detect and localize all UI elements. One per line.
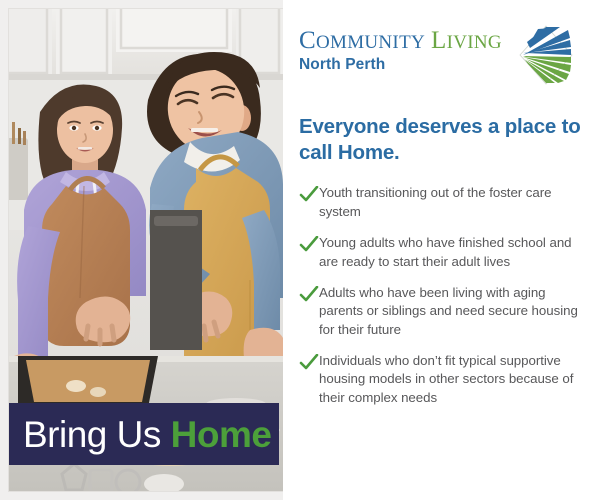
check-icon <box>299 286 319 303</box>
brand-logo: COMMUNITYLIVING North Perth <box>299 22 582 94</box>
list-item-label: Individuals who don’t fit typical suppor… <box>319 352 582 407</box>
poster-root: Bring Us Home COMMUNITYLIVING North Pert… <box>0 0 600 500</box>
brand-logo-line1: COMMUNITYLIVING <box>299 28 502 53</box>
list-item: Individuals who don’t fit typical suppor… <box>299 352 582 407</box>
check-icon <box>299 186 319 203</box>
content-panel: COMMUNITYLIVING North Perth <box>283 0 600 500</box>
banner-text-green: Home <box>171 414 272 455</box>
list-item-label: Young adults who have finished school an… <box>319 234 582 271</box>
check-icon <box>299 236 319 253</box>
brand-logo-subtitle: North Perth <box>299 56 502 74</box>
list-item-label: Adults who have been living with aging p… <box>319 284 582 339</box>
benefits-list: Youth transitioning out of the foster ca… <box>299 184 582 406</box>
diamond-rays-logo-mark <box>518 24 574 86</box>
brand-word-living: LIVING <box>431 27 502 54</box>
page-title: Everyone deserves a place to call Home. <box>299 114 582 166</box>
bring-us-home-banner: Bring Us Home <box>9 403 279 465</box>
photo-panel: Bring Us Home <box>0 0 283 500</box>
list-item-label: Youth transitioning out of the foster ca… <box>319 184 582 221</box>
check-icon <box>299 354 319 371</box>
brand-logo-wordmark: COMMUNITYLIVING North Perth <box>299 22 502 74</box>
list-item: Adults who have been living with aging p… <box>299 284 582 339</box>
list-item: Youth transitioning out of the foster ca… <box>299 184 582 221</box>
banner-text-white: Bring Us <box>23 414 161 455</box>
brand-word-community: COMMUNITY <box>299 27 425 54</box>
banner-text: Bring Us Home <box>9 416 271 453</box>
list-item: Young adults who have finished school an… <box>299 234 582 271</box>
